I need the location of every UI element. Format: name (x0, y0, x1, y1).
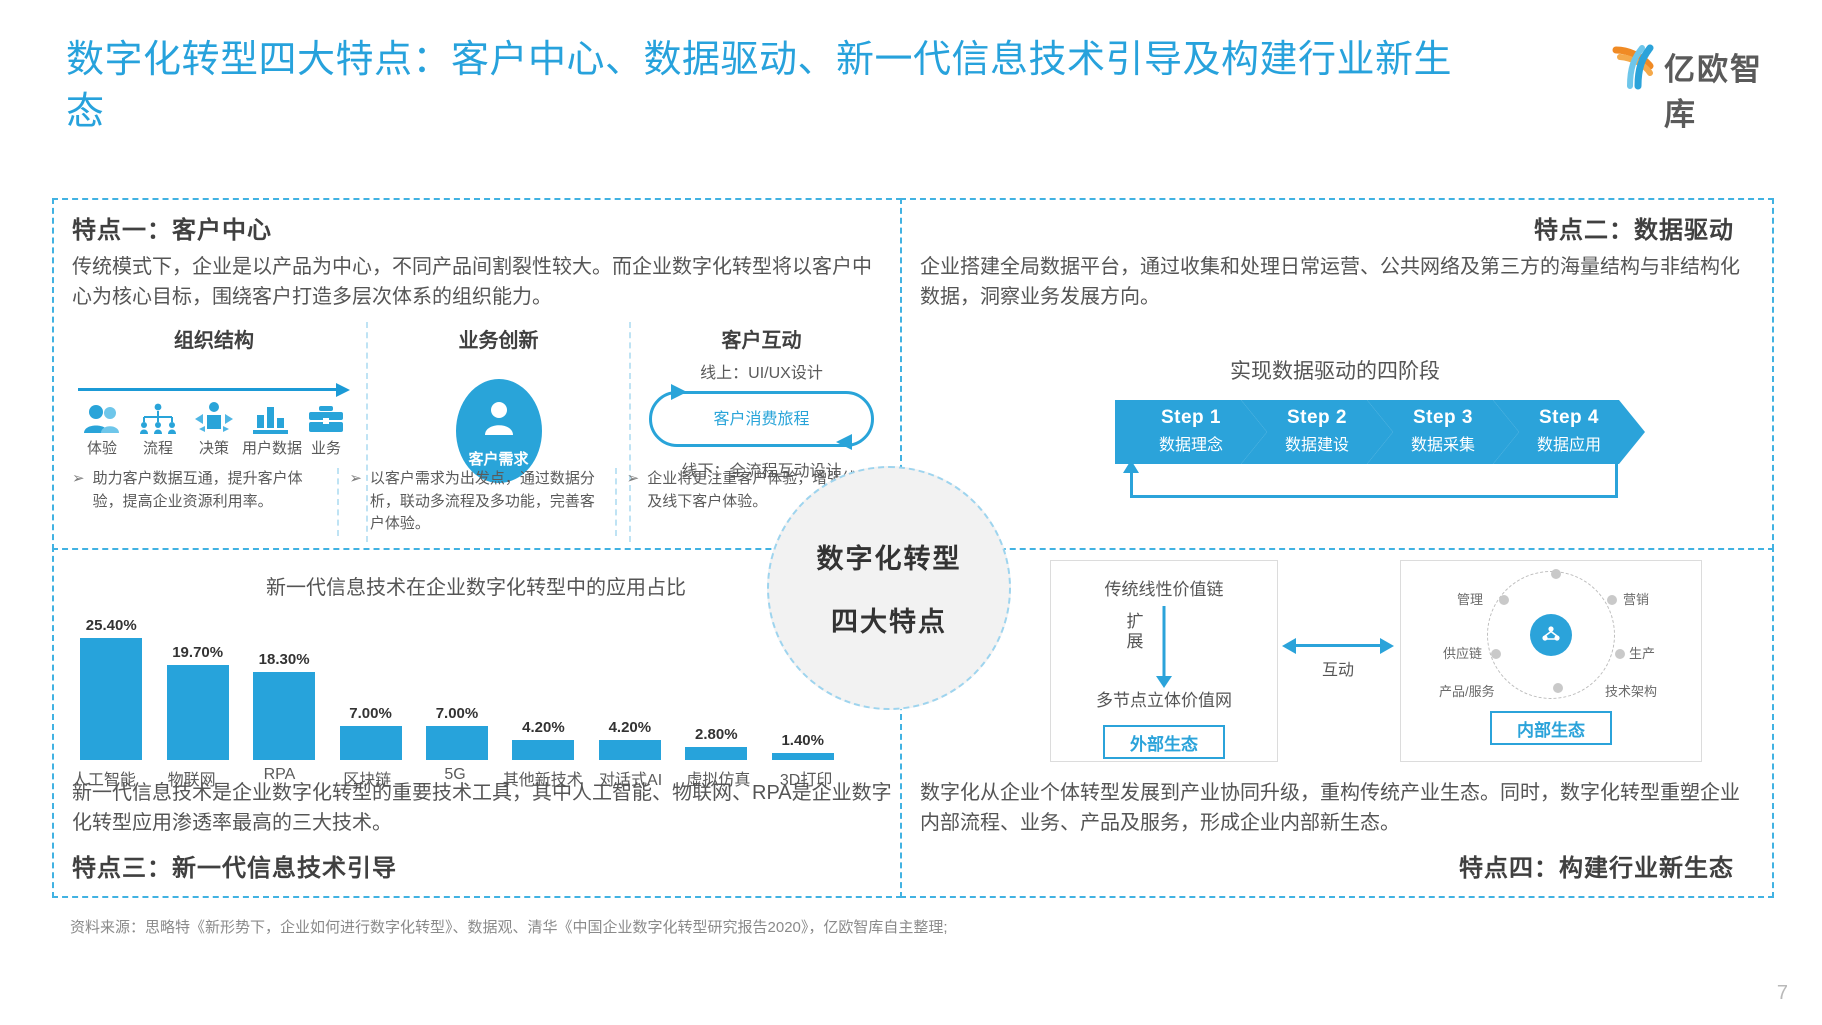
page-title: 数字化转型四大特点：客户中心、数据驱动、新一代信息技术引导及构建行业新生态 (66, 34, 1466, 139)
panel1-title: 特点一：客户中心 (72, 210, 272, 245)
panel1-bullets: ➢ 助力客户数据互通，提升客户体验，提高企业资源利用率。 ➢ 以客户需求为出发点… (62, 468, 892, 536)
bar-chart-icon (249, 403, 291, 435)
bar-value-label: 25.40% (86, 617, 137, 634)
bullet-text: 助力客户数据互通，提升客户体验，提高企业资源利用率。 (93, 468, 328, 536)
briefcase-icon (305, 403, 347, 435)
slide-root: 数字化转型四大特点：客户中心、数据驱动、新一代信息技术引导及构建行业新生态 亿欧… (0, 0, 1822, 1025)
center-line-2: 四大特点 (831, 600, 947, 639)
bar-rect (599, 740, 661, 760)
ecosystem-node (1499, 595, 1509, 605)
bar-rect (253, 672, 315, 760)
customer-journey-label: 客户消费旅程 (645, 405, 878, 429)
bar-value-label: 19.70% (172, 644, 223, 661)
ecosystem-node-label: 管理 (1457, 589, 1483, 608)
column-customer-interaction-head: 客户互动 (639, 324, 884, 353)
value-chain-top-label: 传统线性价值链 (1051, 575, 1277, 600)
arrow-right-icon (1380, 638, 1394, 654)
interaction-label: 互动 (1282, 656, 1394, 680)
bar-item: 4.20% (500, 600, 586, 760)
bar-rect (426, 726, 488, 760)
panel2-title: 特点二：数据驱动 (1534, 210, 1734, 245)
decision-person-icon (193, 401, 235, 435)
ecosystem-node-label: 生产 (1629, 643, 1655, 662)
bar-value-label: 7.00% (436, 705, 479, 722)
bar-rect (167, 665, 229, 760)
interaction-connector: 互动 (1282, 638, 1394, 684)
bar-rect (685, 747, 747, 760)
bar-value-label: 7.00% (349, 705, 392, 722)
org-icon-row: 体验 流程 (74, 401, 354, 458)
page-number: 7 (1777, 982, 1788, 1005)
bar-rect (80, 638, 142, 760)
step-en-label: Step 3 (1367, 407, 1519, 429)
ecosystem-node-label: 产品/服务 (1439, 681, 1495, 700)
org-icon-label: 流程 (130, 437, 186, 458)
column-org-structure-head: 组织结构 (70, 324, 358, 353)
ecosystem-node (1551, 569, 1561, 579)
bar-chart: 25.40% 19.70% 18.30% 7.00% 7.00% 4.20% (60, 600, 850, 760)
org-icon-decision: 决策 (186, 401, 242, 458)
panel1-description: 传统模式下，企业是以产品为中心，不同产品间割裂性较大。而企业数字化转型将以客户中… (72, 252, 890, 313)
bar-value-label: 2.80% (695, 726, 738, 743)
panel3-title: 特点三：新一代信息技术引导 (72, 848, 397, 883)
step-cn-label: 数据理念 (1115, 431, 1267, 455)
step-en-label: Step 1 (1115, 407, 1267, 429)
bar-item: 2.80% (673, 600, 759, 760)
org-icon-label: 体验 (74, 437, 130, 458)
org-icon-label: 决策 (186, 437, 242, 458)
bullet-item: ➢ 助力客户数据互通，提升客户体验，提高企业资源利用率。 (62, 468, 337, 536)
expand-arrow-label: 扩展 (1122, 612, 1148, 651)
bar-item: 25.40% (68, 600, 154, 760)
ecosystem-node (1553, 683, 1563, 693)
bar-value-label: 18.30% (259, 651, 310, 668)
org-chart-icon (137, 403, 179, 435)
panel3-description: 新一代信息技术是企业数字化转型的重要技术工具，其中人工智能、物联网、RPA是企业… (72, 778, 892, 839)
bar-rect (340, 726, 402, 760)
customer-need-label: 客户需求 (456, 448, 542, 469)
internal-ecosystem-box: 管理 营销 生产 技术架构 产品/服务 供应链 内部生态 (1400, 560, 1702, 762)
column-business-innovation-head: 业务创新 (376, 324, 621, 353)
expand-arrow: 扩展 (1051, 606, 1277, 682)
loop-arrow-left-icon (836, 434, 852, 450)
step-en-label: Step 2 (1241, 407, 1393, 429)
ecosystem-node (1491, 649, 1501, 659)
step-1: Step 1 数据理念 (1115, 400, 1267, 464)
org-progress-arrow (78, 383, 350, 395)
bar-item: 18.30% (241, 600, 327, 760)
bar-item: 7.00% (327, 600, 413, 760)
org-icon-experience: 体验 (74, 403, 130, 458)
value-chain-bottom-label: 多节点立体价值网 (1051, 686, 1277, 711)
external-ecosystem-badge: 外部生态 (1103, 725, 1225, 759)
panel4-description: 数字化从企业个体转型发展到产业协同升级，重构传统产业生态。同时，数字化转型重塑企… (920, 778, 1750, 839)
bullet-marker-icon: ➢ (349, 468, 362, 536)
org-icon-user-data: 用户数据 (242, 403, 298, 458)
bar-rect (512, 740, 574, 760)
ecosystem-node-label: 供应链 (1443, 643, 1482, 662)
bar-item: 7.00% (414, 600, 500, 760)
bullet-marker-icon: ➢ (627, 468, 640, 536)
org-icon-business: 业务 (298, 403, 354, 458)
bar-chart-bars: 25.40% 19.70% 18.30% 7.00% 7.00% 4.20% (68, 600, 846, 760)
bar-item: 4.20% (587, 600, 673, 760)
steps-feedback-arrow (1118, 464, 1618, 498)
logo-text: 亿欧智库 (1664, 44, 1792, 134)
ecosystem-node (1607, 595, 1617, 605)
center-highlight-circle: 数字化转型 四大特点 (767, 466, 1011, 710)
source-note: 资料来源：思略特《新形势下，企业如何进行数字化转型》、数据观、清华《中国企业数字… (70, 916, 948, 937)
panel2-subtitle: 实现数据驱动的四阶段 (900, 355, 1770, 385)
loop-arrow-right-icon (671, 384, 687, 400)
bar-item: 19.70% (154, 600, 240, 760)
customer-journey-loop: 客户消费旅程 (645, 387, 878, 447)
panel4-title: 特点四：构建行业新生态 (1459, 848, 1734, 883)
bullet-marker-icon: ➢ (72, 468, 85, 536)
person-icon (479, 401, 519, 437)
org-icon-process: 流程 (130, 403, 186, 458)
people-icon (82, 403, 122, 435)
ecosystem-node-label: 技术架构 (1605, 681, 1657, 700)
ecosystem-node-label: 营销 (1623, 589, 1649, 608)
bar-value-label: 4.20% (522, 719, 565, 736)
ecosystem-hub-icon (1530, 614, 1572, 656)
ecosystem-diagram: 传统线性价值链 扩展 多节点立体价值网 外部生态 互动 (1050, 560, 1760, 765)
bar-value-label: 1.40% (781, 732, 824, 749)
arrow-left-icon (1282, 638, 1296, 654)
bar-value-label: 4.20% (609, 719, 652, 736)
center-line-1: 数字化转型 (817, 537, 962, 576)
network-icon (1540, 624, 1562, 646)
bar-rect (772, 753, 834, 760)
interaction-online-label: 线上：UI/UX设计 (639, 359, 884, 383)
panel2-description: 企业搭建全局数据平台，通过收集和处理日常运营、公共网络及第三方的海量结构与非结构… (920, 252, 1750, 313)
org-icon-label: 用户数据 (242, 437, 298, 458)
yiou-logo-icon (1612, 40, 1660, 90)
brand-logo: 亿欧智库 (1612, 40, 1792, 92)
data-driven-steps: Step 1 数据理念 Step 2 数据建设 Step 3 数据采集 Step… (1115, 400, 1640, 464)
org-icon-label: 业务 (298, 437, 354, 458)
bullet-item: ➢ 以客户需求为出发点，通过数据分析，联动多流程及多功能，完善客户体验。 (337, 468, 614, 536)
external-ecosystem-box: 传统线性价值链 扩展 多节点立体价值网 外部生态 (1050, 560, 1278, 762)
bullet-text: 以客户需求为出发点，通过数据分析，联动多流程及多功能，完善客户体验。 (370, 468, 605, 536)
step-en-label: Step 4 (1493, 407, 1645, 429)
ecosystem-node (1615, 649, 1625, 659)
internal-ecosystem-badge: 内部生态 (1490, 711, 1612, 745)
